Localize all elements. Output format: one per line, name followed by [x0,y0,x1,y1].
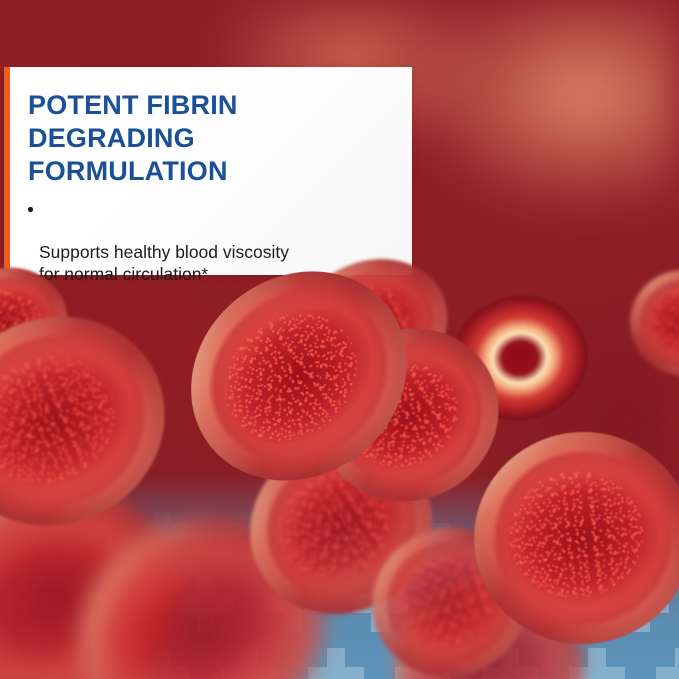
card-content: POTENT FIBRIN DEGRADING FORMULATION Supp… [28,89,394,285]
orange-accent-bar [4,67,10,275]
plus-icon [656,648,679,679]
benefit-text: Supports healthy blood viscosity for nor… [39,242,289,284]
cell-far-right-top [623,263,679,383]
feature-callout-card: POTENT FIBRIN DEGRADING FORMULATION Supp… [4,67,412,275]
bullet-dot-icon [28,207,33,212]
product-banner-image: POTENT FIBRIN DEGRADING FORMULATION Supp… [0,0,679,679]
card-headline: POTENT FIBRIN DEGRADING FORMULATION [28,89,394,188]
